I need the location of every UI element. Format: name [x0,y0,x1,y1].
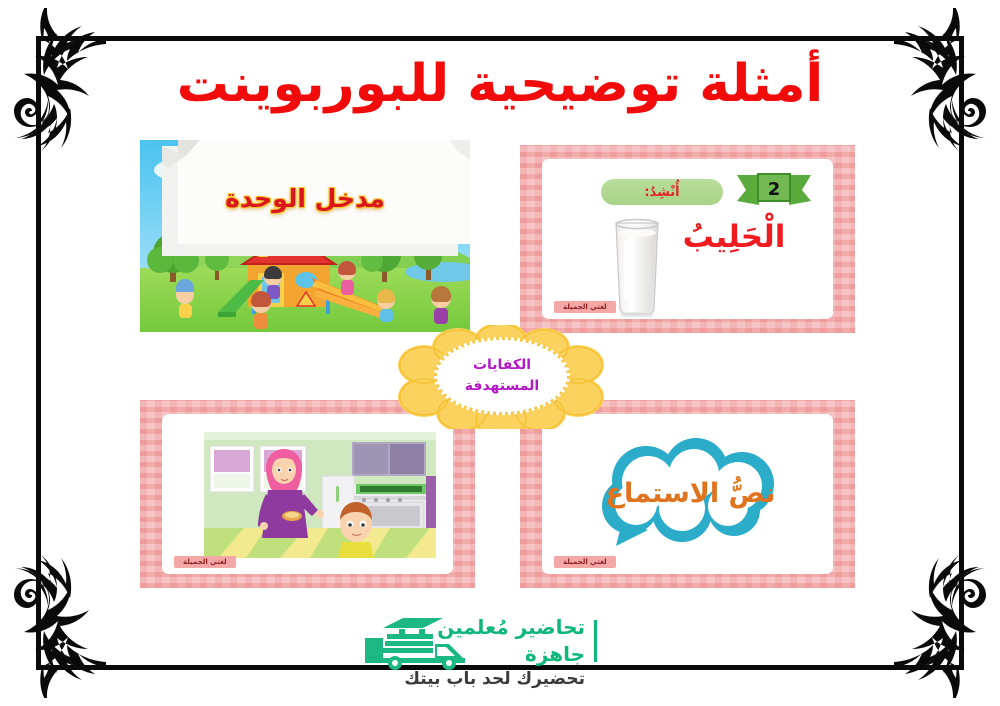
slide-content-kitchen: لغتي الجميلة [162,414,453,574]
kitchen-scene-illustration [204,432,436,558]
listening-text-label: نصُّ الاستماع [578,478,803,509]
footer-logo: تحاضير مُعلمين جاهزة تحضيرك لحد باب بيتك [357,612,647,674]
slide-content-listening: نصُّ الاستماع لغتي الجميلة [542,414,833,574]
anshid-label: أُنْشِدُ: [601,179,723,205]
speech-cloud-shape: نصُّ الاستماع [578,436,803,554]
slide-thumbnail-unit-intro[interactable]: مدخل الوحدة [140,140,470,332]
slide-footer-label: لغتي الجميلة [174,556,236,568]
slide-content-milk: أُنْشِدُ: 2 [542,159,833,319]
slide-footer-label: لغتي الجميلة [554,556,616,568]
competency-line1: الكفايات [473,355,531,376]
competency-line2: المستهدفة [465,376,539,397]
frame-top-line [36,36,964,41]
competency-label: الكفايات المستهدفة [434,337,570,415]
delivery-truck-icon [357,614,475,670]
slide-footer-label: لغتي الجميلة [554,301,616,313]
poster-page: أمثلة توضيحية للبوربوينت [0,0,1000,706]
logo-divider [594,620,597,662]
logo-line-2: تحضيرك لحد باب بيتك [385,668,585,691]
slide-number: 2 [737,179,811,200]
playground-illustration [140,140,470,332]
corner-ornament-icon [10,553,160,698]
slide-thumbnail-milk[interactable]: أُنْشِدُ: 2 [520,145,855,333]
slide-number-ribbon: 2 [737,173,811,207]
page-title: أمثلة توضيحية للبوربوينت [0,54,1000,114]
competency-badge[interactable]: الكفايات المستهدفة [388,325,614,429]
milk-word: الْحَلِيبُ [659,219,809,255]
unit-intro-heading: مدخل الوحدة [140,184,470,213]
corner-ornament-icon [840,553,990,698]
